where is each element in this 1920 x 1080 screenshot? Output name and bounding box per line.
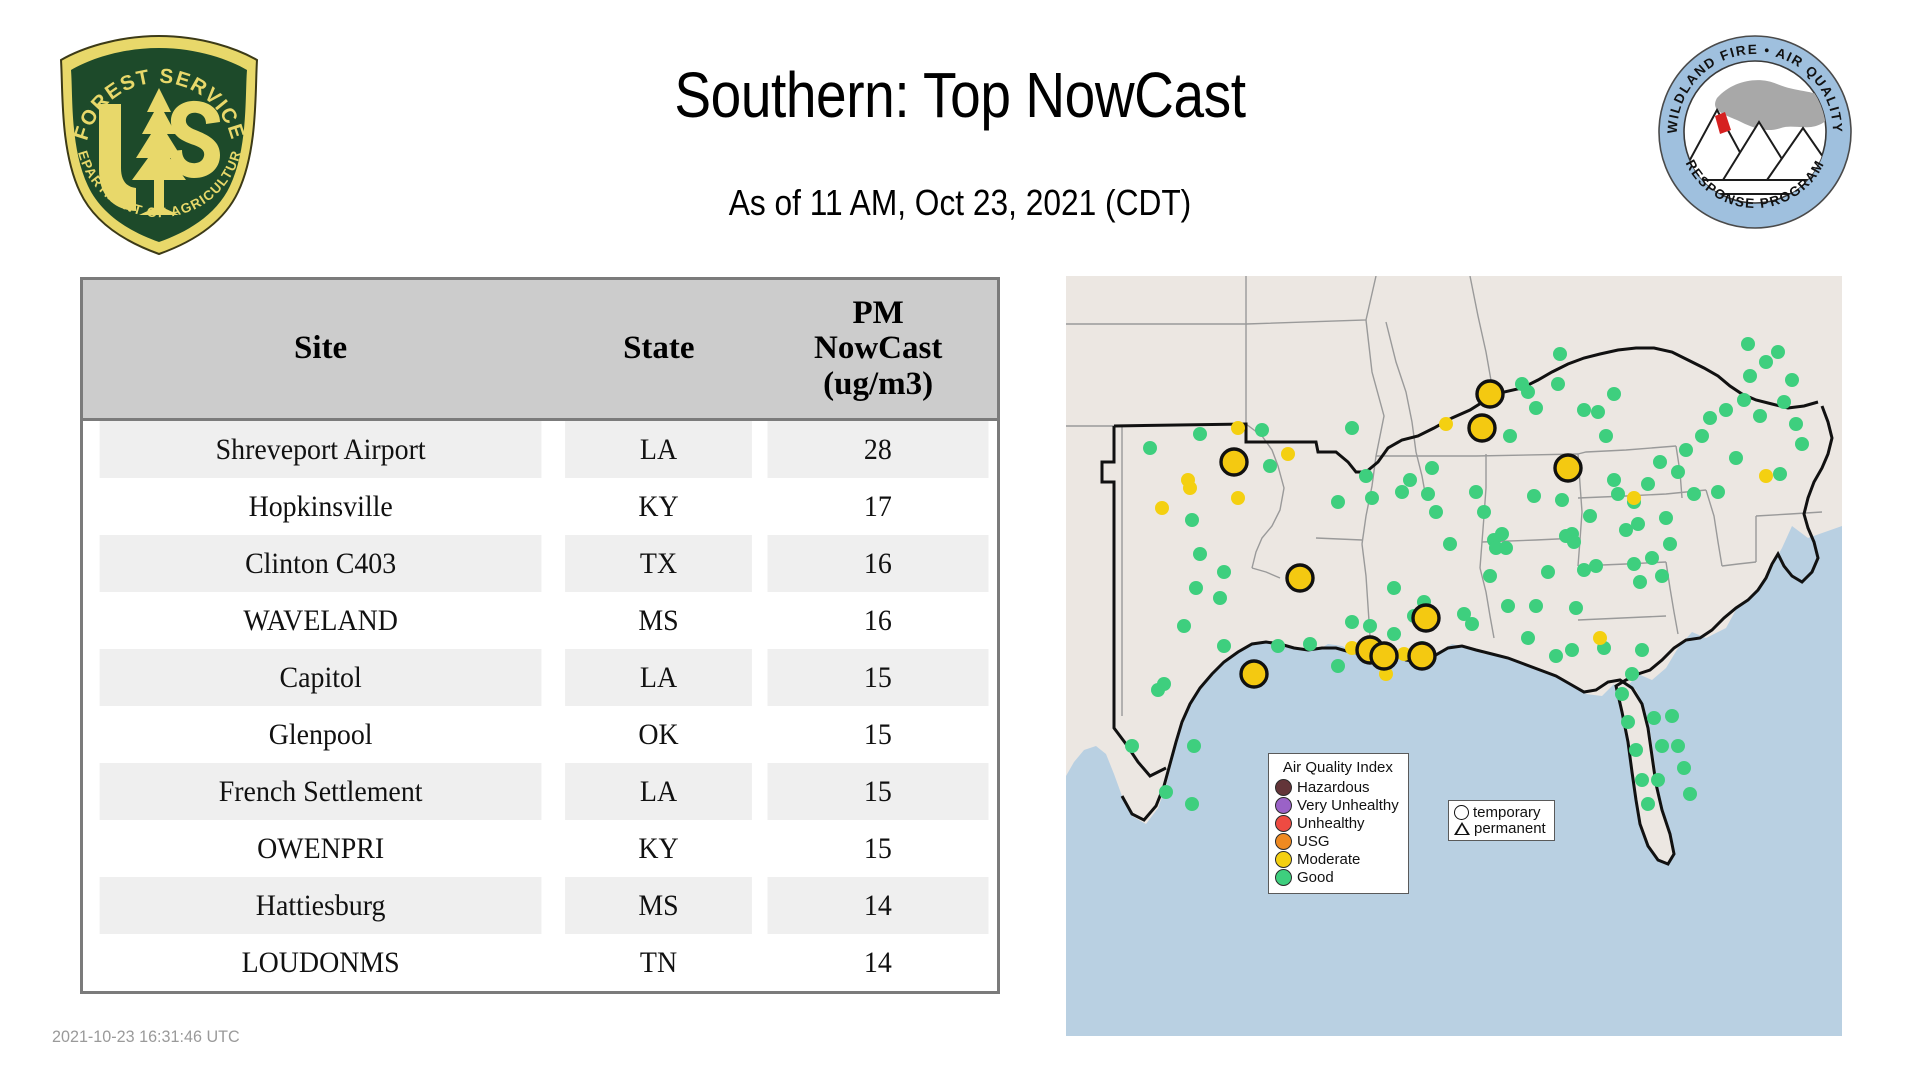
marker-loudonms (1555, 455, 1581, 481)
table-row: LOUDONMSTN14 (83, 934, 997, 991)
table-row: WAVELANDMS16 (83, 592, 997, 649)
cell-state: MS (565, 877, 752, 934)
legend-row-moderate: Moderate (1275, 851, 1399, 868)
column-header-pm-nowcast: PM NowCast (ug/m3) (759, 280, 997, 420)
marker-hopkinsville (1469, 415, 1495, 441)
cell-pm-nowcast: 15 (768, 649, 989, 706)
cell-state: KY (565, 820, 752, 877)
table-row: Shreveport AirportLA28 (83, 420, 997, 479)
cell-pm-nowcast: 14 (768, 877, 989, 934)
cell-state: MS (565, 592, 752, 649)
legend-row-hazardous: Hazardous (1275, 779, 1399, 796)
legend-title: Air Quality Index (1277, 759, 1399, 776)
cell-state: OK (565, 706, 752, 763)
table-row: HattiesburgMS14 (83, 877, 997, 934)
legend-label: Very Unhealthy (1297, 798, 1399, 813)
southern-region-aqi-map[interactable] (1066, 276, 1842, 1036)
marker-glenpool (1221, 449, 1247, 475)
permanent-monitor-icon (1454, 822, 1470, 835)
marker-owenpri (1477, 381, 1503, 407)
pm-header-line1: PM (763, 296, 993, 332)
marker-clinton-c403 (1241, 661, 1267, 687)
legend-swatch-icon (1275, 833, 1292, 850)
wfaqrp-circular-logo: WILDLAND FIRE • AIR QUALITY RESPONSE PRO… (1655, 32, 1855, 232)
marker-waveland (1409, 643, 1435, 669)
generation-timestamp: 2021-10-23 16:31:46 UTC (52, 1027, 240, 1047)
cell-site: Shreveport Airport (100, 420, 542, 479)
table-row: Clinton C403TX16 (83, 535, 997, 592)
legend-swatch-icon (1275, 851, 1292, 868)
page-subtitle: As of 11 AM, Oct 23, 2021 (CDT) (379, 182, 1541, 224)
cell-site: WAVELAND (100, 592, 542, 649)
map-canvas (1066, 276, 1842, 1036)
legend-swatch-icon (1275, 869, 1292, 886)
pm-header-line3: (ug/m3) (763, 367, 993, 403)
legend-row-temporary: temporary (1454, 805, 1546, 820)
cell-pm-nowcast: 28 (768, 420, 989, 479)
legend-label: USG (1297, 834, 1330, 849)
map-legend-air-quality-index: Air Quality Index HazardousVery Unhealth… (1268, 753, 1409, 894)
table-row: HopkinsvilleKY17 (83, 478, 997, 535)
legend-row-unhealthy: Unhealthy (1275, 815, 1399, 832)
usfs-shield-logo: FOREST SERVICE DEPARTMENT OF AGRICULTURE (52, 30, 267, 258)
pm-header-line2: NowCast (763, 331, 993, 367)
cell-state: TX (565, 535, 752, 592)
table-header-row: Site State PM NowCast (ug/m3) (83, 280, 997, 420)
marker-hattiesburg (1413, 605, 1439, 631)
legend-label: Good (1297, 870, 1334, 885)
cell-site: LOUDONMS (100, 934, 542, 991)
cell-site: OWENPRI (100, 820, 542, 877)
legend-label: Moderate (1297, 852, 1360, 867)
cell-state: LA (565, 420, 752, 479)
legend-row-very-unhealthy: Very Unhealthy (1275, 797, 1399, 814)
cell-pm-nowcast: 15 (768, 706, 989, 763)
cell-site: Hopkinsville (100, 478, 542, 535)
legend-swatch-icon (1275, 815, 1292, 832)
cell-site: French Settlement (100, 763, 542, 820)
cell-pm-nowcast: 15 (768, 820, 989, 877)
cell-state: LA (565, 763, 752, 820)
legend-row-permanent: permanent (1454, 821, 1546, 836)
legend-label-temporary: temporary (1473, 805, 1541, 820)
cell-pm-nowcast: 16 (768, 592, 989, 649)
column-header-state: State (558, 280, 759, 420)
page-title: Southern: Top NowCast (392, 58, 1527, 132)
legend-row-usg: USG (1275, 833, 1399, 850)
legend-label: Hazardous (1297, 780, 1370, 795)
cell-state: TN (565, 934, 752, 991)
cell-site: Clinton C403 (100, 535, 542, 592)
legend-row-good: Good (1275, 869, 1399, 886)
legend-swatch-icon (1275, 779, 1292, 796)
marker-shreveport-airport (1287, 565, 1313, 591)
cell-pm-nowcast: 17 (768, 478, 989, 535)
table-row: CapitolLA15 (83, 649, 997, 706)
top-nowcast-table: Site State PM NowCast (ug/m3) Shreveport… (80, 277, 1000, 994)
marker-capitol (1371, 643, 1397, 669)
cell-state: KY (565, 478, 752, 535)
cell-site: Glenpool (100, 706, 542, 763)
legend-label: Unhealthy (1297, 816, 1365, 831)
cell-state: LA (565, 649, 752, 706)
column-header-site: Site (83, 280, 558, 420)
cell-site: Capitol (100, 649, 542, 706)
table-row: French SettlementLA15 (83, 763, 997, 820)
cell-pm-nowcast: 14 (768, 934, 989, 991)
table-row: GlenpoolOK15 (83, 706, 997, 763)
legend-label-permanent: permanent (1474, 821, 1546, 836)
cell-pm-nowcast: 15 (768, 763, 989, 820)
legend-swatch-icon (1275, 797, 1292, 814)
table-row: OWENPRIKY15 (83, 820, 997, 877)
temporary-monitor-icon (1454, 805, 1469, 820)
cell-pm-nowcast: 16 (768, 535, 989, 592)
map-legend-monitor-type: temporary permanent (1448, 800, 1555, 841)
cell-site: Hattiesburg (100, 877, 542, 934)
